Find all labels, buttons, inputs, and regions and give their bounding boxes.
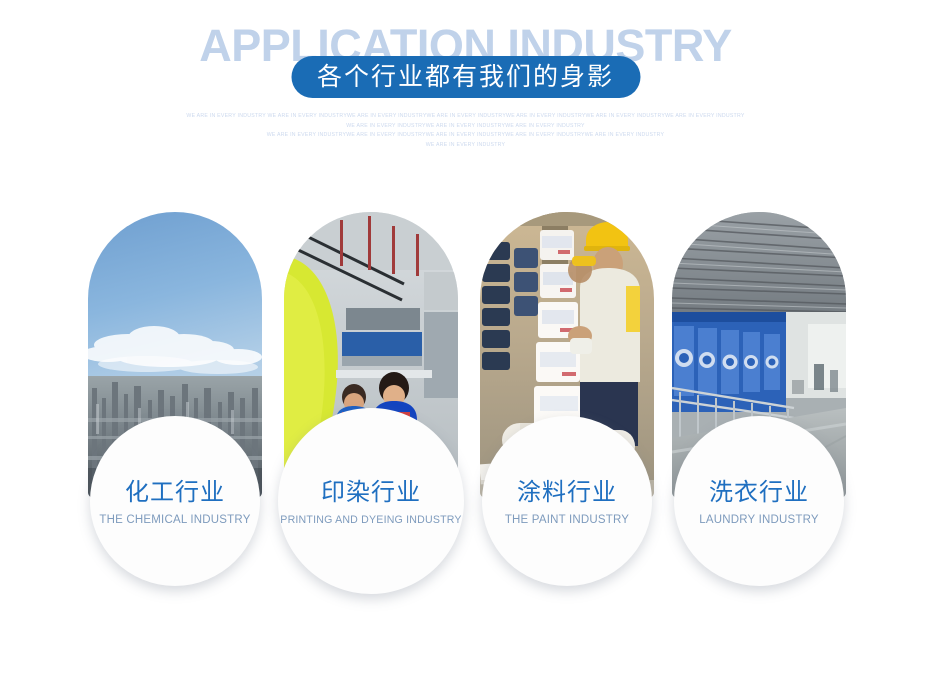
- chemical-cn-label: 化工行业: [125, 477, 225, 507]
- page-header: APPLICATION INDUSTRY 各个行业都有我们的身影 WE ARE …: [0, 0, 931, 172]
- industry-card-paint[interactable]: 涂料行业 THE PAINT INDUSTRY: [480, 212, 654, 498]
- paint-label-circle: 涂料行业 THE PAINT INDUSTRY: [482, 416, 652, 586]
- industry-card-grid: 化工行业 THE CHEMICAL INDUSTRY: [88, 212, 846, 622]
- paint-en-label: THE PAINT INDUSTRY: [505, 514, 629, 526]
- headline-badge: 各个行业都有我们的身影: [291, 56, 640, 98]
- micro-copy-line-3: WE ARE IN EVERY INDUSTRYWE ARE IN EVERY …: [0, 131, 931, 141]
- laundry-label-circle: 洗衣行业 LAUNDRY INDUSTRY: [674, 416, 844, 586]
- chemical-en-label: THE CHEMICAL INDUSTRY: [99, 514, 250, 526]
- paint-cn-label: 涂料行业: [517, 477, 617, 507]
- industry-card-laundry[interactable]: 洗衣行业 LAUNDRY INDUSTRY: [672, 212, 846, 498]
- printing-dyeing-label-circle: 印染行业 PRINTING AND DYEING INDUSTRY: [278, 408, 464, 594]
- micro-copy-line-4: WE ARE IN EVERY INDUSTRY: [0, 141, 931, 151]
- industry-card-printing-dyeing[interactable]: 印染行业 PRINTING AND DYEING INDUSTRY: [284, 212, 458, 498]
- chemical-label-circle: 化工行业 THE CHEMICAL INDUSTRY: [90, 416, 260, 586]
- micro-copy-line-2: WE ARE IN EVERY INDUSTRYWE ARE IN EVERY …: [0, 122, 931, 132]
- printing-dyeing-en-label: PRINTING AND DYEING INDUSTRY: [280, 514, 461, 526]
- laundry-en-label: LAUNDRY INDUSTRY: [699, 514, 819, 526]
- industry-card-chemical[interactable]: 化工行业 THE CHEMICAL INDUSTRY: [88, 212, 262, 498]
- micro-copy-line-1: WE ARE IN EVERY INDUSTRY WE ARE IN EVERY…: [0, 112, 931, 122]
- micro-copy-block: WE ARE IN EVERY INDUSTRY WE ARE IN EVERY…: [0, 112, 931, 150]
- printing-dyeing-cn-label: 印染行业: [321, 477, 421, 507]
- laundry-cn-label: 洗衣行业: [709, 477, 809, 507]
